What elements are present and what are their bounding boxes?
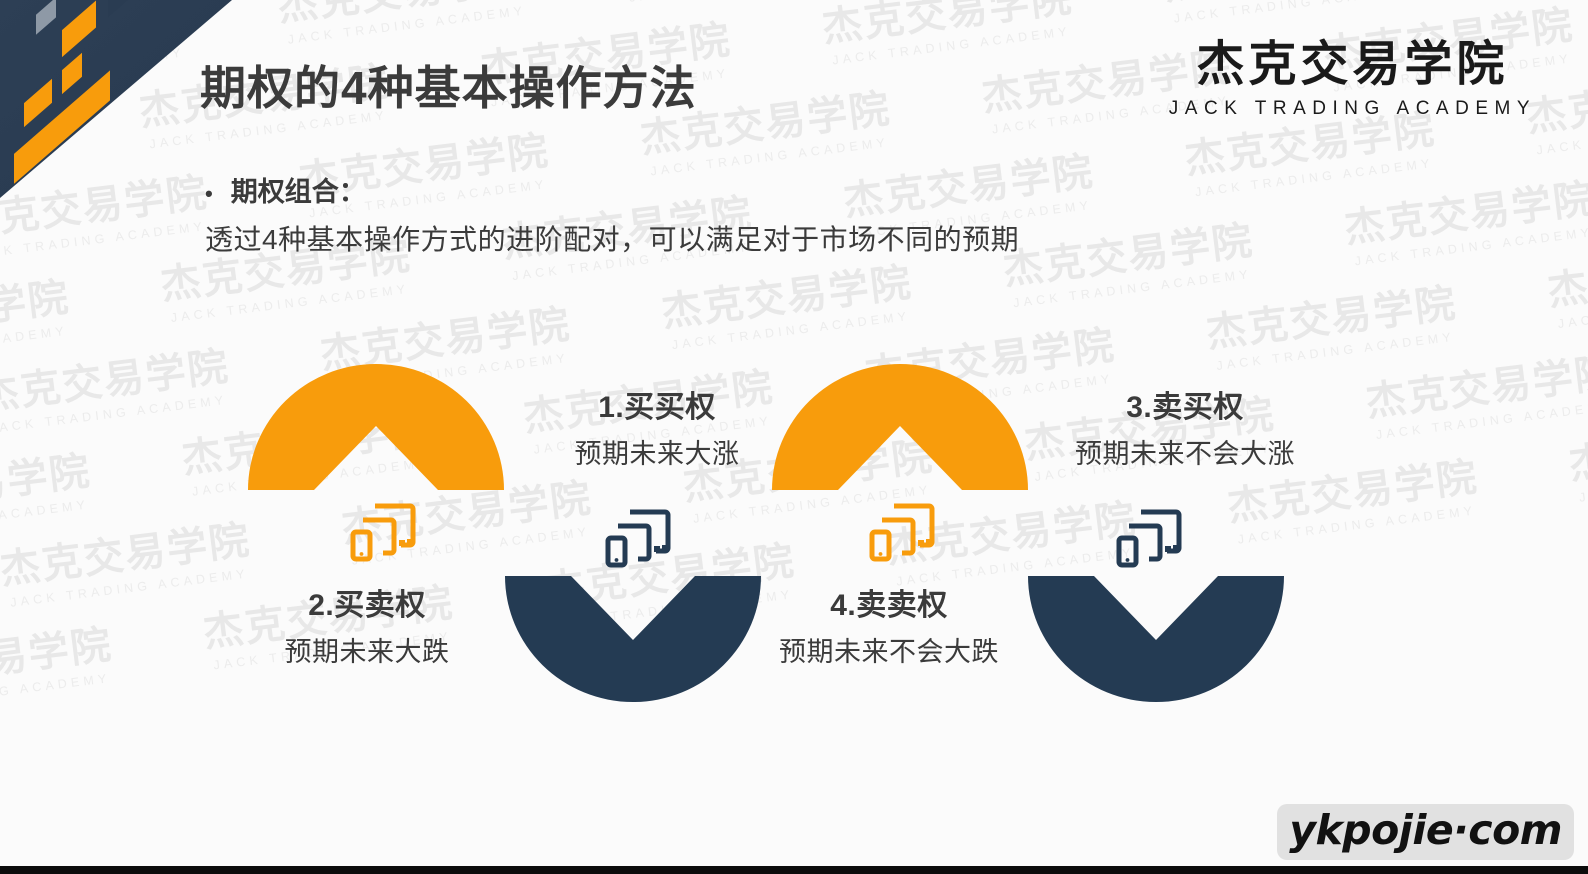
watermark-en: JACK TRADING ACADEMY <box>1007 267 1259 310</box>
watermark-tile: 杰克交易学院JACK TRADING ACADEMY <box>0 520 255 610</box>
watermark-tile: 杰克交易学院JACK TRADING ACADEMY <box>1161 0 1418 26</box>
watermark-en: JACK TRADING ACADEMY <box>281 3 533 46</box>
devices-icon <box>866 498 936 566</box>
watermark-en: JACK TRADING ACADEMY <box>1348 225 1588 268</box>
watermark-tile: 杰克交易学院JACK TRADING ACADEMY <box>1183 110 1440 200</box>
watermark-en: JACK TRADING ACADEMY <box>1188 156 1440 199</box>
option-title: 4.卖卖权 <box>749 580 1029 624</box>
watermark-tile: 杰克交易学院JACK TRADING ACADEMY <box>1567 415 1588 505</box>
page-title: 期权的4种基本操作方法 <box>200 52 697 118</box>
watermark-en: JACK TRADING ACADEMY <box>4 566 256 609</box>
watermark-cn: 杰克交易学院 <box>1567 415 1588 485</box>
watermark-en: JACK TRADING ACADEMY <box>665 309 917 352</box>
watermark-tile: 杰克交易学院JACK TRADING ACADEMY <box>1546 241 1588 331</box>
watermark-en: JACK TRADING ACADEMY <box>0 219 213 262</box>
watermark-cn: 杰克交易学院 <box>0 625 115 695</box>
option-subtitle: 预期未来不会大涨 <box>1045 432 1325 471</box>
watermark-cn: 杰克交易学院 <box>1342 178 1588 248</box>
bullet-heading-row: • 期权组合： <box>205 170 1019 209</box>
watermark-tile: 杰克交易学院JACK TRADING ACADEMY <box>0 277 74 367</box>
devices-icon <box>602 504 672 572</box>
watermark-tile: 杰克交易学院JACK TRADING ACADEMY <box>0 451 96 541</box>
watermark-en: JACK TRADING ACADEMY <box>0 324 74 367</box>
watermark-en: JACK TRADING ACADEMY <box>1210 330 1462 373</box>
watermark-tile: 杰克交易学院JACK TRADING ACADEMY <box>1364 352 1588 442</box>
watermark-tile: 杰克交易学院JACK TRADING ACADEMY <box>1342 178 1588 268</box>
watermark-en: JACK TRADING ACADEMY <box>0 393 234 436</box>
watermark-tile: 杰克交易学院JACK TRADING ACADEMY <box>659 262 916 352</box>
watermark-en: JACK TRADING ACADEMY <box>623 0 875 4</box>
watermark-tile: 杰克交易学院JACK TRADING ACADEMY <box>0 625 117 715</box>
watermark-cn: 杰克交易学院 <box>0 520 253 590</box>
watermark-cn: 杰克交易学院 <box>1161 0 1416 6</box>
watermark-en: JACK TRADING ACADEMY <box>1573 462 1588 505</box>
watermark-cn: 杰克交易学院 <box>820 0 1075 48</box>
watermark-tile: 杰克交易学院JACK TRADING ACADEMY <box>617 0 874 4</box>
option-subtitle: 预期未来不会大跌 <box>749 630 1029 669</box>
option-shape-buy-put <box>505 576 761 702</box>
watermark-cn: 杰克交易学院 <box>275 0 530 27</box>
option-shape-sell-call <box>772 364 1028 490</box>
option-shape-sell-put <box>1028 576 1284 702</box>
watermark-en: JACK TRADING ACADEMY <box>0 671 117 714</box>
option-label-sell-put: 4.卖卖权 预期未来不会大跌 <box>749 580 1029 669</box>
bullet-marker: • <box>205 183 213 205</box>
watermark-cn: 杰克交易学院 <box>659 262 914 332</box>
watermark-tile: 杰克交易学院JACK TRADING ACADEMY <box>1204 283 1461 373</box>
brand-logo: 杰克交易学院 JACK TRADING ACADEMY <box>1169 40 1536 120</box>
watermark-cn: 杰克交易学院 <box>1546 241 1588 311</box>
site-stamp: ykpojie·com <box>1277 804 1574 860</box>
watermark-cn: 杰克交易学院 <box>0 346 232 416</box>
devices-icon <box>1113 504 1183 572</box>
option-title: 2.买卖权 <box>237 580 497 624</box>
slide-canvas: 杰克交易学院JACK TRADING ACADEMY杰克交易学院JACK TRA… <box>0 0 1588 874</box>
devices-icon <box>347 498 417 566</box>
watermark-en: JACK TRADING ACADEMY <box>1369 399 1588 442</box>
watermark-en: JACK TRADING ACADEMY <box>0 498 96 541</box>
bottom-black-strip <box>0 866 1588 874</box>
bullet-heading-text: 期权组合： <box>231 170 366 209</box>
watermark-cn: 杰克交易学院 <box>1364 352 1588 422</box>
brand-logo-cn: 杰克交易学院 <box>1169 40 1536 90</box>
option-label-sell-call: 3.卖买权 预期未来不会大涨 <box>1045 382 1325 471</box>
option-shape-buy-call <box>248 364 504 490</box>
bullet-block: • 期权组合： 透过4种基本操作方式的进阶配对，可以满足对于市场不同的预期 <box>205 170 1019 258</box>
watermark-tile: 杰克交易学院JACK TRADING ACADEMY <box>0 346 234 436</box>
watermark-en: JACK TRADING ACADEMY <box>1167 0 1419 26</box>
bullet-body-text: 透过4种基本操作方式的进阶配对，可以满足对于市场不同的预期 <box>205 218 1019 258</box>
watermark-en: JACK TRADING ACADEMY <box>1231 504 1483 547</box>
watermark-cn: 杰克交易学院 <box>1001 220 1256 290</box>
watermark-en: JACK TRADING ACADEMY <box>1551 288 1588 331</box>
brand-logo-en: JACK TRADING ACADEMY <box>1169 98 1536 120</box>
watermark-tile: 杰克交易学院JACK TRADING ACADEMY <box>820 0 1077 68</box>
watermark-cn: 杰克交易学院 <box>1204 283 1459 353</box>
option-label-buy-call: 1.买买权 预期未来大涨 <box>527 382 787 471</box>
watermark-en: JACK TRADING ACADEMY <box>826 25 1078 68</box>
watermark-tile: 杰克交易学院JACK TRADING ACADEMY <box>275 0 532 46</box>
watermark-cn: 杰克交易学院 <box>0 451 93 521</box>
option-subtitle: 预期未来大涨 <box>527 432 787 471</box>
option-title: 3.卖买权 <box>1045 382 1325 426</box>
watermark-cn: 杰克交易学院 <box>0 277 72 347</box>
watermark-en: JACK TRADING ACADEMY <box>164 282 416 325</box>
watermark-en: JACK TRADING ACADEMY <box>1530 114 1588 157</box>
watermark-tile: 杰克交易学院JACK TRADING ACADEMY <box>1001 220 1258 310</box>
option-label-buy-put: 2.买卖权 预期未来大跌 <box>237 580 497 669</box>
option-title: 1.买买权 <box>527 382 787 426</box>
option-subtitle: 预期未来大跌 <box>237 630 497 669</box>
